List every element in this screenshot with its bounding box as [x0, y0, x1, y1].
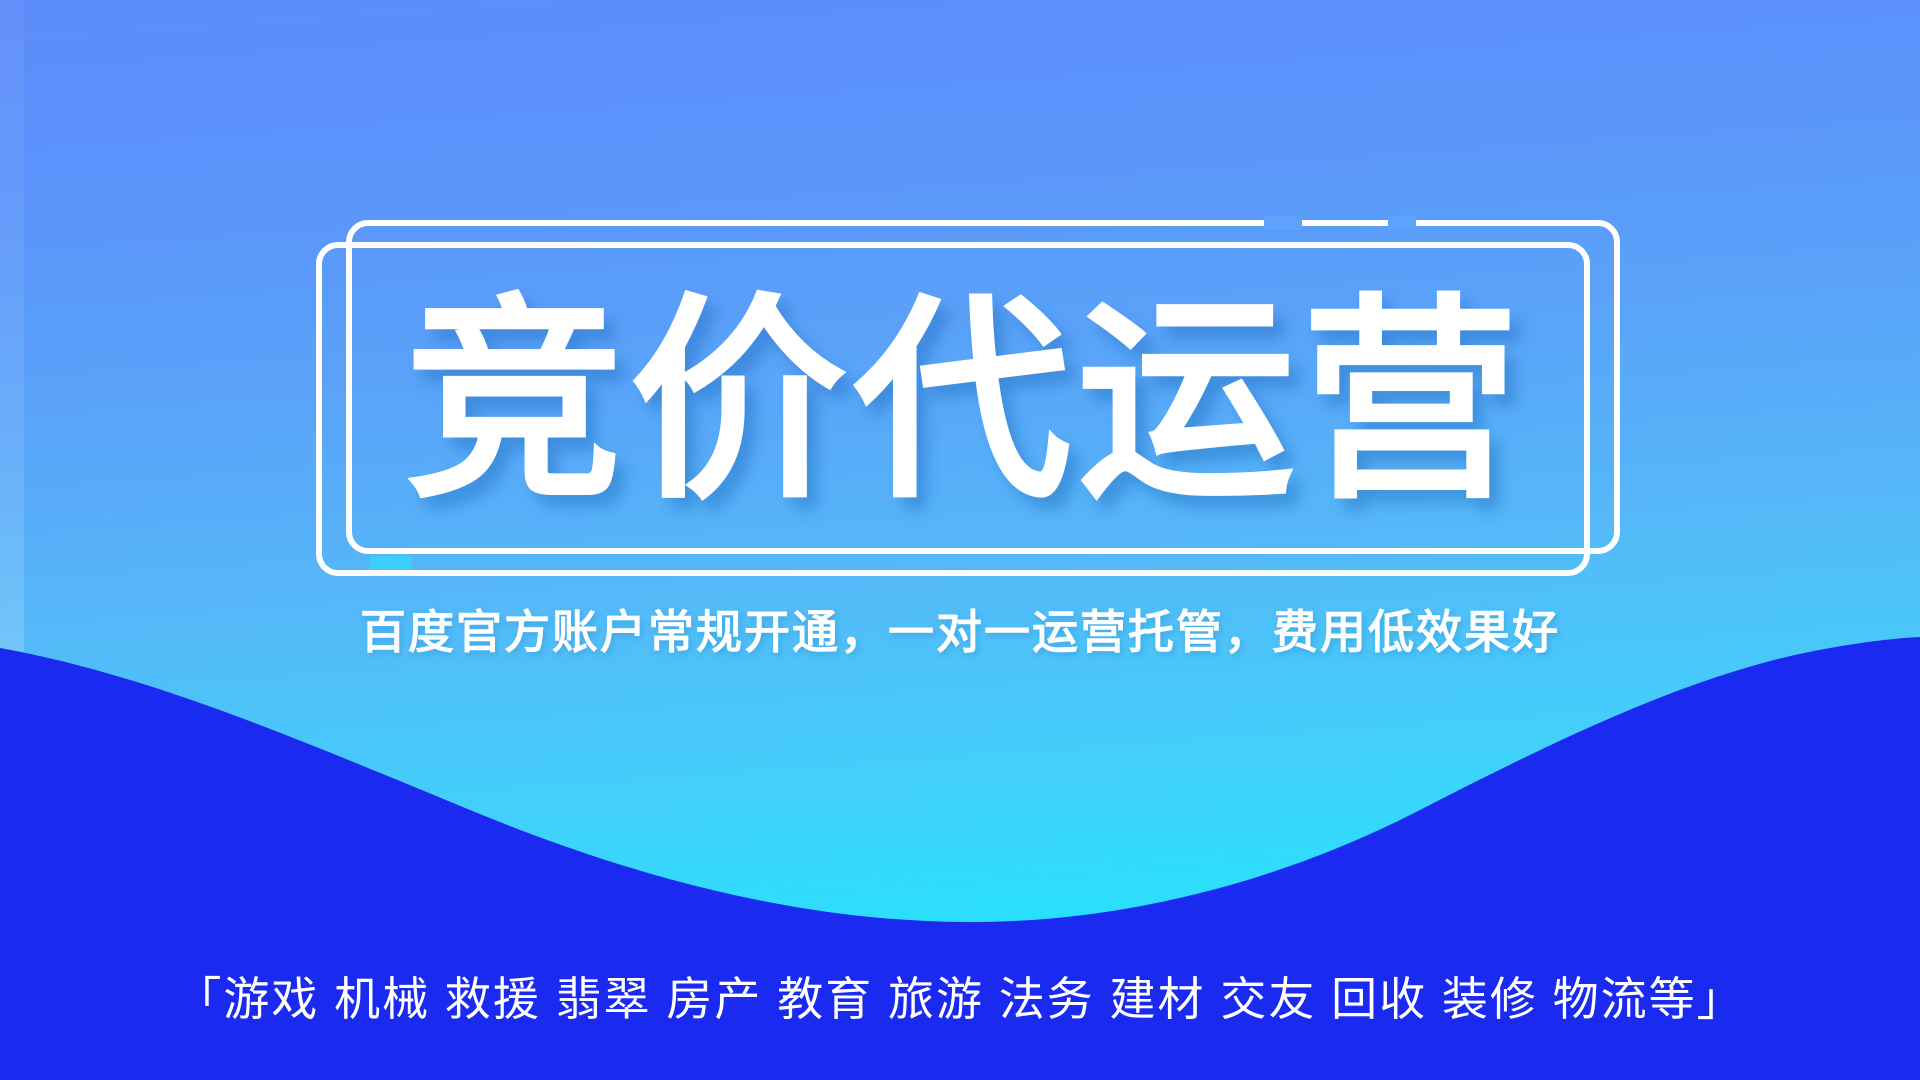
frame-gap-top-left — [1264, 216, 1302, 230]
title-frame-group: 竞价代运营 — [330, 238, 1600, 568]
frame-gap-top-right — [1388, 216, 1416, 230]
page-title: 竞价代运营 — [330, 238, 1600, 568]
industry-tags-text: 「游戏 机械 救援 翡翠 房产 教育 旅游 法务 建材 交友 回收 装修 物流等… — [0, 963, 1920, 1029]
subtitle-text: 百度官方账户常规开通，一对一运营托管，费用低效果好 — [0, 596, 1920, 662]
promo-banner: 竞价代运营 百度官方账户常规开通，一对一运营托管，费用低效果好 「游戏 机械 救… — [0, 0, 1920, 1080]
